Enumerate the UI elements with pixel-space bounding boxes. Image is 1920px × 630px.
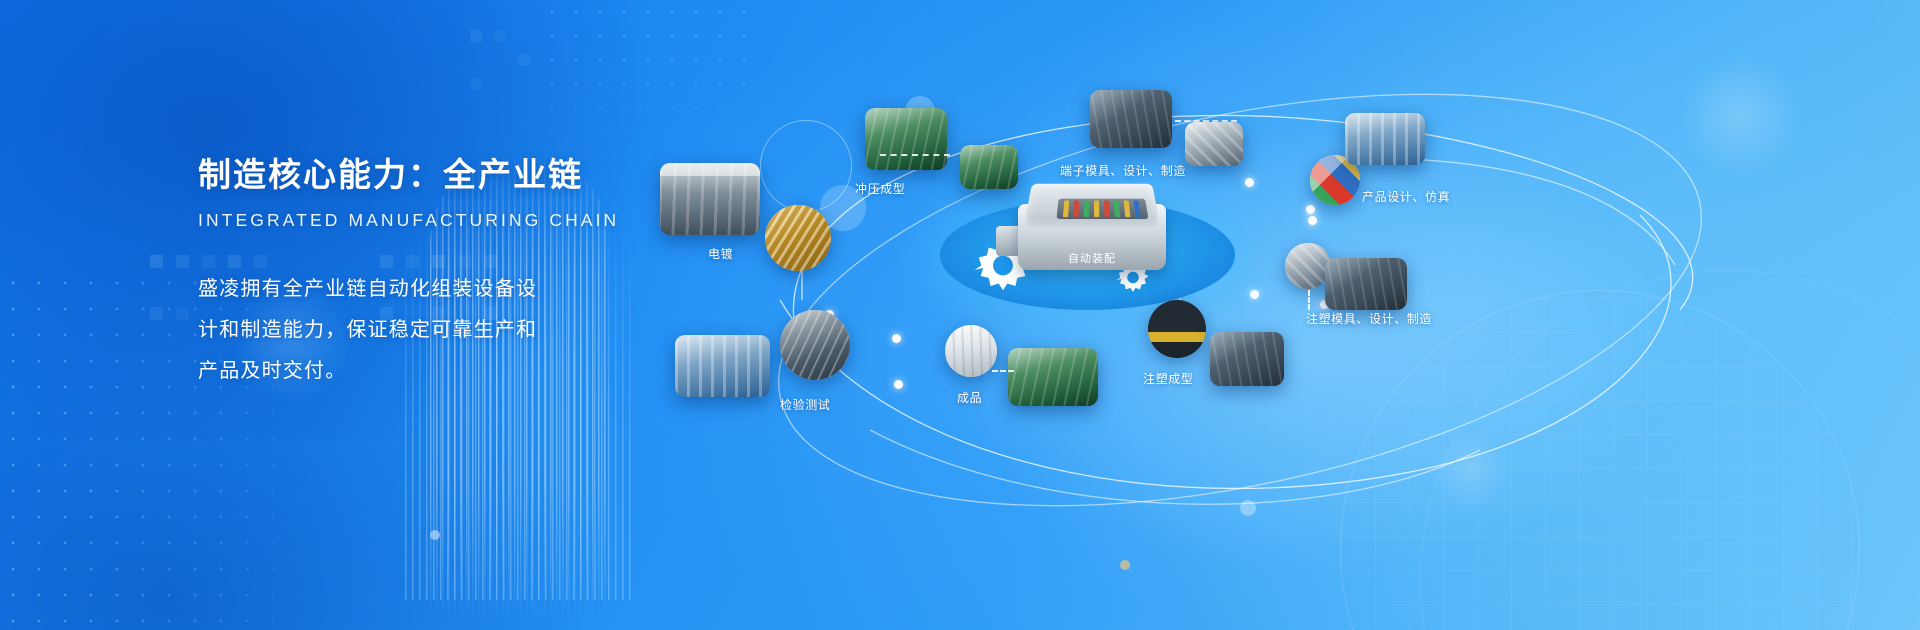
plating-photo: [660, 163, 760, 235]
orbit-node-dot: [1308, 216, 1317, 225]
page-subtitle: INTEGRATED MANUFACTURING CHAIN: [198, 210, 618, 231]
node-label-product-design: 产品设计、仿真: [1362, 188, 1450, 205]
mold-workshop-photo: [1090, 90, 1172, 148]
dashed-connector-vertical: [1308, 290, 1310, 310]
automatic-assembly-machine: 自动装配: [1018, 176, 1166, 284]
inspection-photo-2: [675, 335, 770, 397]
machine-slot: [1056, 199, 1148, 219]
orbit-node-dot: [1306, 205, 1315, 214]
inspection-lab-photo: [780, 310, 850, 380]
hero-paragraph: 盛凌拥有全产业链自动化组装设备设 计和制造能力，保证稳定可靠生产和 产品及时交付…: [198, 269, 618, 392]
node-label-injection-molding: 注塑成型: [1143, 370, 1193, 387]
mosaic-squares-mid: [470, 30, 630, 150]
injection-molding-photo-2: [1210, 332, 1284, 386]
page-title: 制造核心能力：全产业链: [198, 148, 618, 196]
hero-copy: 制造核心能力：全产业链 INTEGRATED MANUFACTURING CHA…: [198, 148, 618, 392]
manufacturing-chain-diagram: 自动装配 电镀 冲压成型 端子模具、设计、: [620, 0, 1920, 630]
terminal-mold-photo: [1090, 90, 1172, 148]
orbit-node-dot: [1250, 290, 1259, 299]
injection-machine-photo: [1148, 300, 1206, 358]
orbit-node-dot: [894, 380, 903, 389]
dashed-connector: [992, 370, 1014, 372]
assembly-line-photo: [1008, 348, 1098, 406]
node-label-terminal-mold: 端子模具、设计、制造: [1060, 162, 1186, 179]
plated-coil-icon: [765, 205, 831, 271]
dashed-connector: [880, 154, 950, 156]
hero-banner: 制造核心能力：全产业链 INTEGRATED MANUFACTURING CHA…: [0, 0, 1920, 630]
node-label-finished-product: 成品: [957, 389, 982, 406]
paragraph-line: 计和制造能力，保证稳定可靠生产和: [198, 310, 618, 351]
paragraph-line: 盛凌拥有全产业链自动化组装设备设: [198, 269, 618, 310]
orbit-node-dot: [1245, 178, 1254, 187]
node-label-inspection-test: 检验测试: [780, 396, 830, 413]
stamping-machine-photo: [865, 108, 947, 170]
product-design-photo: [1345, 113, 1425, 165]
node-label-plating: 电镀: [708, 245, 733, 262]
terminal-mold-part-photo: [1185, 122, 1243, 166]
node-label-injection-mold: 注塑模具、设计、制造: [1306, 310, 1432, 327]
orbit-node-dot: [892, 334, 901, 343]
bokeh-circle: [430, 530, 440, 540]
paragraph-line: 产品及时交付。: [198, 351, 618, 392]
center-label: 自动装配: [1018, 250, 1166, 266]
injection-mold-photo-2: [1325, 258, 1407, 310]
machine-top-panel: [1023, 184, 1160, 227]
stamping-photo: [865, 108, 947, 170]
connector-product-photo: [945, 325, 997, 377]
stamping-part-photo: [960, 145, 1018, 189]
production-line-photo: [660, 163, 760, 235]
node-label-stamping: 冲压成型: [855, 180, 905, 197]
